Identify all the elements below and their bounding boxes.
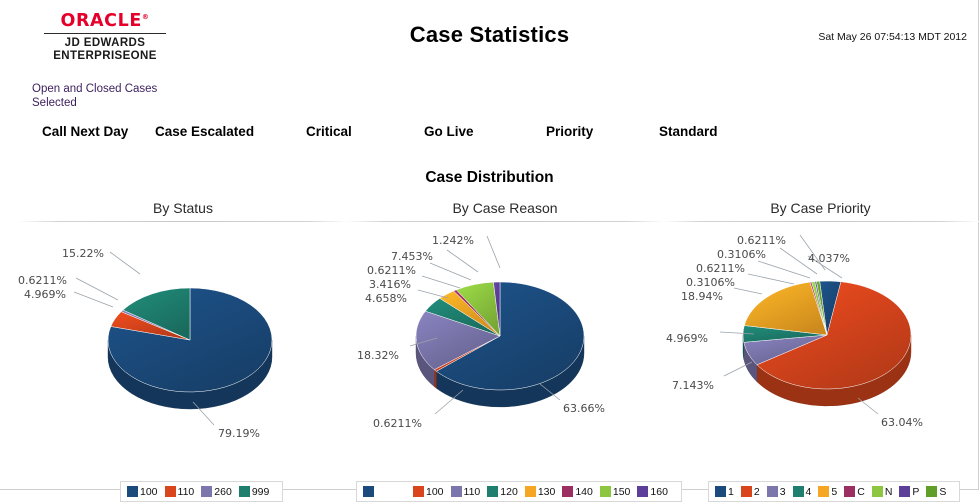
legend-swatch-icon: [818, 486, 829, 497]
legend-label: 5: [831, 486, 837, 498]
legend-label: 100: [140, 486, 158, 498]
legend-label: 4: [806, 486, 812, 498]
pie-slice-percent-label: 0.3106%: [686, 276, 735, 289]
pie-chart: 63.04%7.143%4.969%18.94%0.3106%0.6211%0.…: [662, 222, 979, 452]
legend-label: 110: [178, 486, 195, 498]
legend-label: 3: [780, 486, 786, 498]
legend-item[interactable]: 1: [715, 486, 737, 498]
pie-slice-percent-label: 0.6211%: [373, 417, 422, 430]
legend-swatch-icon: [872, 486, 883, 497]
chart-legend: 12345CNPS: [708, 481, 960, 502]
legend-swatch-icon: [793, 486, 804, 497]
legend-swatch-icon: [165, 486, 176, 497]
chart-legend: 100110260999: [120, 481, 283, 502]
category-label[interactable]: Priority: [546, 124, 593, 139]
page-header: ORACLE® JD EDWARDS ENTERPRISEONE Case St…: [0, 0, 979, 72]
pie-slice-percent-label: 18.94%: [681, 290, 723, 303]
chart-legend: 100110120130140150160: [356, 481, 682, 502]
legend-label: 100: [426, 486, 444, 498]
legend-item[interactable]: 130: [525, 486, 559, 498]
registered-mark: ®: [142, 13, 150, 21]
category-row: Call Next DayCase EscalatedCriticalGo Li…: [0, 124, 979, 146]
legend-swatch-icon: [562, 486, 573, 497]
legend-swatch-icon: [201, 486, 212, 497]
legend-swatch-icon: [637, 486, 648, 497]
pie-slice-percent-label: 18.32%: [357, 349, 399, 362]
legend-item[interactable]: 2: [741, 486, 763, 498]
legend-swatch-icon: [767, 486, 778, 497]
pie-slice-percent-label: 1.242%: [432, 234, 474, 247]
pie-slice-percent-label: 0.3106%: [717, 248, 766, 261]
legend-label: 140: [575, 486, 593, 498]
case-distribution-title: Case Distribution: [0, 169, 979, 187]
category-label[interactable]: Case Escalated: [155, 124, 254, 139]
chart-panel: By Case Reason63.66%0.6211%18.32%4.658%3…: [345, 200, 665, 490]
leader-line: [110, 252, 140, 274]
legend-item[interactable]: S: [926, 486, 949, 498]
pie-slices: [743, 281, 911, 389]
legend-item[interactable]: 999: [239, 486, 273, 498]
legend-label: 999: [252, 486, 270, 498]
legend-item[interactable]: 120: [487, 486, 521, 498]
pie-slice-side: [434, 370, 436, 389]
legend-label: 120: [500, 486, 518, 498]
pie-slice-percent-label: 7.143%: [672, 379, 714, 392]
pie-slice-percent-label: 4.037%: [808, 252, 850, 265]
legend-swatch-icon: [600, 486, 611, 497]
leader-line: [858, 398, 878, 414]
selection-note: Open and Closed Cases Selected: [32, 82, 157, 110]
legend-item[interactable]: 100: [413, 486, 447, 498]
pie-slice-percent-label: 7.453%: [391, 250, 433, 263]
pie-slice-percent-label: 63.66%: [563, 402, 605, 415]
category-label[interactable]: Go Live: [424, 124, 474, 139]
pie-slice-percent-label: 0.6211%: [367, 264, 416, 277]
pie-slice-percent-label: 4.969%: [666, 332, 708, 345]
chart-title: By Case Reason: [345, 200, 665, 221]
pie-slices: [416, 282, 584, 390]
legend-item[interactable]: C: [844, 486, 868, 498]
pie-slice-percent-label: 0.6211%: [18, 274, 67, 287]
pie-slice-percent-label: 3.416%: [369, 278, 411, 291]
pie-slice-percent-label: 0.6211%: [737, 234, 786, 247]
legend-swatch-icon: [413, 486, 424, 497]
legend-item[interactable]: 140: [562, 486, 596, 498]
chart-panel: By Case Priority63.04%7.143%4.969%18.94%…: [662, 200, 979, 490]
legend-item[interactable]: 110: [165, 486, 198, 498]
pie-slice-percent-label: 0.6211%: [696, 262, 745, 275]
legend-label: N: [885, 486, 893, 498]
selection-note-line2: Selected: [32, 96, 157, 110]
legend-swatch-icon: [451, 486, 462, 497]
pie-slice-percent-label: 15.22%: [62, 247, 104, 260]
category-label[interactable]: Standard: [659, 124, 718, 139]
leader-line: [418, 290, 448, 298]
legend-label: P: [912, 486, 919, 498]
pie-slice-percent-label: 4.969%: [24, 288, 66, 301]
chart-title: By Status: [18, 200, 348, 221]
legend-swatch-icon: [487, 486, 498, 497]
logo-enterpriseone: ENTERPRISEONE: [44, 50, 166, 64]
legend-swatch-icon: [899, 486, 910, 497]
leader-line: [76, 278, 118, 300]
pie-slice-percent-label: 79.19%: [218, 427, 260, 440]
legend-label: 1: [728, 486, 734, 498]
legend-item[interactable]: P: [899, 486, 922, 498]
legend-label: 110: [464, 486, 481, 498]
legend-item[interactable]: 100: [127, 486, 161, 498]
selection-note-line1: Open and Closed Cases: [32, 82, 157, 96]
legend-swatch-icon: [363, 486, 374, 497]
legend-item[interactable]: N: [872, 486, 896, 498]
leader-line: [430, 263, 471, 280]
chart-title: By Case Priority: [662, 200, 979, 221]
pie-slice-percent-label: 4.658%: [365, 292, 407, 305]
legend-label: 130: [538, 486, 556, 498]
legend-swatch-icon: [741, 486, 752, 497]
report-page: ORACLE® JD EDWARDS ENTERPRISEONE Case St…: [0, 0, 979, 490]
legend-item[interactable]: 150: [600, 486, 634, 498]
legend-item[interactable]: 5: [818, 486, 840, 498]
legend-label: 150: [613, 486, 631, 498]
pie-slices: [108, 288, 272, 392]
pie-chart: 63.66%0.6211%18.32%4.658%3.416%0.6211%7.…: [345, 222, 665, 452]
legend-item[interactable]: 260: [201, 486, 235, 498]
leader-line: [422, 276, 460, 288]
legend-swatch-icon: [525, 486, 536, 497]
legend-item[interactable]: [363, 486, 409, 497]
pie-chart: 79.19%4.969%0.6211%15.22%100110260999: [18, 222, 348, 452]
leader-line: [748, 274, 794, 284]
legend-label: C: [857, 486, 865, 498]
pie-slice-percent-label: 63.04%: [881, 416, 923, 429]
legend-item[interactable]: 4: [793, 486, 815, 498]
legend-label: 260: [214, 486, 232, 498]
legend-item[interactable]: 3: [767, 486, 789, 498]
report-timestamp: Sat May 26 07:54:13 MDT 2012: [818, 31, 967, 43]
legend-label: 2: [754, 486, 760, 498]
chart-panel: By Status79.19%4.969%0.6211%15.22%100110…: [18, 200, 348, 490]
legend-item[interactable]: 110: [451, 486, 484, 498]
legend-swatch-icon: [844, 486, 855, 497]
leader-line: [487, 236, 500, 268]
legend-swatch-icon: [715, 486, 726, 497]
legend-swatch-icon: [127, 486, 138, 497]
legend-swatch-icon: [239, 486, 250, 497]
category-label[interactable]: Call Next Day: [42, 124, 128, 139]
legend-label: S: [939, 486, 946, 498]
leader-line: [734, 288, 762, 294]
legend-swatch-icon: [926, 486, 937, 497]
category-label[interactable]: Critical: [306, 124, 352, 139]
leader-line: [447, 250, 478, 272]
